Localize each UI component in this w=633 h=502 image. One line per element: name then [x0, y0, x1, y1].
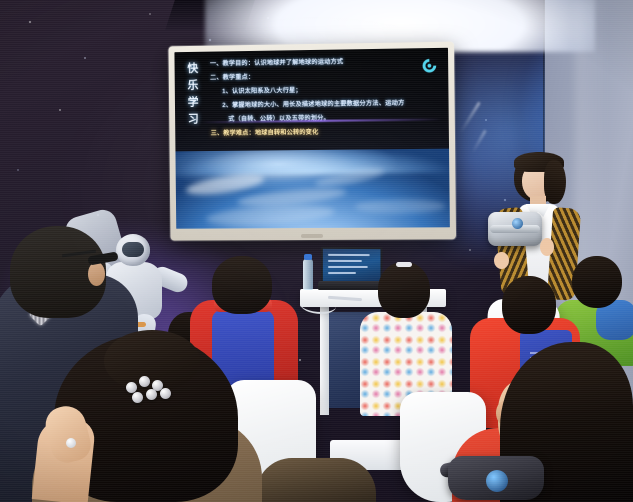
slide-line: 二、教学重点：: [210, 70, 440, 82]
slide-line: 一、教学目的：认识地球并了解地球的运动方式: [210, 56, 440, 69]
desk-leg: [320, 307, 329, 415]
display-screen: 快 乐 学 习 一、教学目的：认识地球并了解地球的运动方式 二、教学重点： 1、…: [174, 48, 449, 229]
slide-line-highlight: 三、教学难点：地球自转和公转的变化: [211, 127, 441, 139]
pearl-hairpin: [139, 376, 150, 387]
foreground-silhouette: [256, 458, 376, 502]
presenter-hand-right: [540, 238, 554, 256]
earth-cloud: [205, 202, 335, 227]
girl-patterned-head: [378, 262, 430, 318]
pearl-hairpin: [160, 388, 171, 399]
vertical-char-1: 快: [187, 61, 207, 78]
vr-headset-lens: [486, 470, 508, 492]
slide-line: 1、认识太阳系及八大行星；: [210, 84, 440, 96]
slide-body: 一、教学目的：认识地球并了解地球的运动方式 二、教学重点： 1、认识太阳系及八大…: [210, 56, 441, 143]
slide-earth-image: [175, 148, 449, 228]
star-projector-device[interactable]: [488, 212, 542, 246]
ring: [66, 438, 76, 448]
earth-atmosphere-limb: [175, 148, 449, 175]
earth-cloud: [355, 199, 446, 214]
slide-text-area: 快 乐 学 习 一、教学目的：认识地球并了解地球的运动方式 二、教学重点： 1、…: [174, 48, 449, 155]
child-red-jacket-head: [502, 276, 556, 334]
wall-display[interactable]: 快 乐 学 习 一、教学目的：认识地球并了解地球的运动方式 二、教学重点： 1、…: [168, 42, 456, 241]
astronaut-visor: [122, 242, 144, 257]
laptop-screen: [323, 249, 381, 285]
bottle-cap: [304, 254, 312, 260]
spiral-swirl-logo: [421, 57, 438, 74]
slide-line: 2、掌握地球的大小、用长及描述地球的主要数据分方法、运动方: [210, 98, 440, 110]
presenter-hair-side: [544, 160, 566, 204]
boy-head: [212, 256, 272, 314]
laptop-keyboard-base[interactable]: [318, 281, 381, 290]
earth-cloud: [185, 171, 265, 198]
water-bottle: [303, 259, 313, 290]
slide-vertical-heading: 快 乐 学 习: [187, 61, 207, 129]
hair-clip: [396, 262, 412, 267]
pearl-hairpin: [132, 392, 143, 403]
device-lens: [512, 218, 523, 229]
vertical-char-2: 乐: [187, 78, 207, 95]
vertical-char-4: 习: [188, 111, 208, 128]
man-ear: [88, 262, 105, 286]
boy-green-jacket-head: [572, 256, 622, 308]
presenter-hand-left: [494, 252, 509, 269]
pearl-hairpin: [146, 389, 157, 400]
vertical-char-3: 学: [188, 94, 208, 111]
photo-scene: 快 乐 学 习 一、教学目的：认识地球并了解地球的运动方式 二、教学重点： 1、…: [0, 0, 633, 502]
display-logo-nub: [301, 234, 323, 238]
